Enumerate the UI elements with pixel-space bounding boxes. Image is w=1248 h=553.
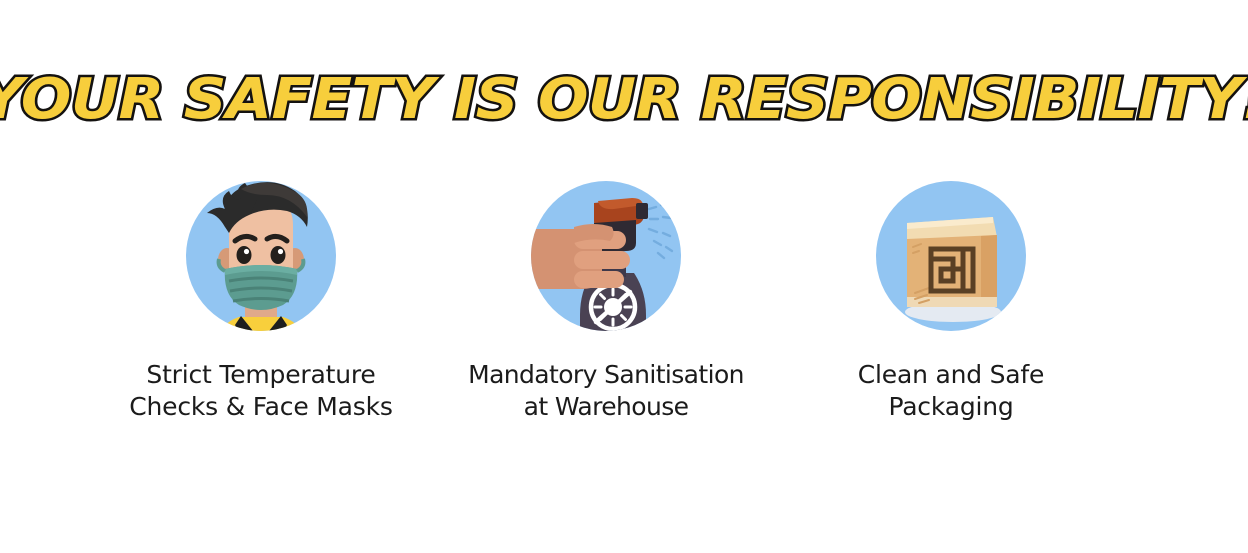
feature-item-warehouse-sanitisation: Mandatory Sanitisation at Warehouse	[441, 165, 771, 423]
feature-caption: Mandatory Sanitisation at Warehouse	[468, 359, 744, 423]
delivery-person-with-face-mask-icon	[171, 165, 351, 345]
cardboard-box-package-icon	[861, 165, 1041, 345]
feature-item-temperature-checks: Strict Temperature Checks & Face Masks	[96, 165, 426, 423]
hand-holding-spray-bottle-icon	[516, 165, 696, 345]
headline-container: YOUR SAFETY IS OUR RESPONSIBILITY!	[0, 72, 1248, 128]
spray-bottle-illustration	[516, 165, 696, 345]
safety-banner: YOUR SAFETY IS OUR RESPONSIBILITY!	[0, 0, 1248, 553]
feature-item-clean-packaging: Clean and Safe Packaging	[786, 165, 1116, 423]
box-illustration	[861, 165, 1041, 345]
person-illustration	[171, 165, 351, 345]
feature-list: Strict Temperature Checks & Face Masks	[96, 165, 1116, 423]
page-title: YOUR SAFETY IS OUR RESPONSIBILITY!	[0, 72, 1248, 128]
feature-caption: Strict Temperature Checks & Face Masks	[129, 359, 392, 423]
feature-caption: Clean and Safe Packaging	[858, 359, 1044, 423]
